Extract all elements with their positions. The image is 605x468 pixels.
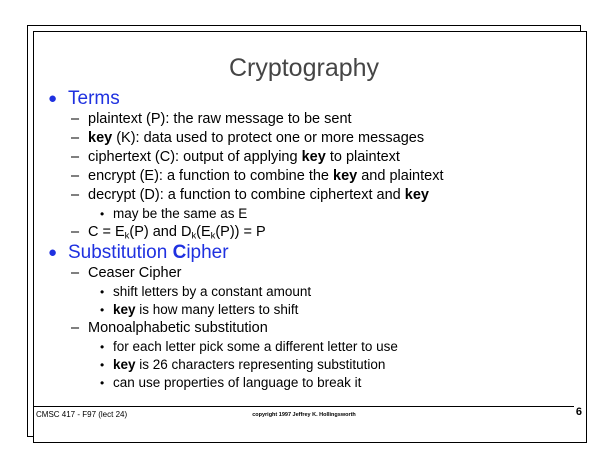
- dash-bullet-icon: –: [71, 223, 79, 242]
- dot-bullet-icon: •: [100, 374, 104, 392]
- outline-body: ●Terms–plaintext (P): the raw message to…: [34, 88, 574, 392]
- heading-terms: ●Terms: [34, 88, 574, 110]
- bullet-ceaser-cipher-label: Ceaser Cipher: [88, 265, 182, 281]
- bullet-plaintext: –plaintext (P): the raw message to be se…: [34, 110, 574, 129]
- page-title: Cryptography: [34, 54, 574, 83]
- footer-copyright-label: copyright 1997 Jeffrey K. Hollingsworth: [34, 412, 574, 418]
- bullet-key-shift-count-label: key is how many letters to shift: [113, 302, 298, 317]
- dot-bullet-icon: •: [100, 301, 104, 319]
- bullet-pick-letter-label: for each letter pick some a different le…: [113, 339, 398, 354]
- dash-bullet-icon: –: [71, 319, 79, 338]
- dash-bullet-icon: –: [71, 129, 79, 148]
- dash-bullet-icon: –: [71, 264, 79, 283]
- bullet-ceaser-cipher: –Ceaser Cipher: [34, 264, 574, 283]
- bullet-key: –key (K): data used to protect one or mo…: [34, 129, 574, 148]
- bullet-shift-letters: •shift letters by a constant amount: [34, 283, 574, 301]
- bullet-decrypt: –decrypt (D): a function to combine ciph…: [34, 186, 574, 205]
- page-number: 6: [576, 406, 582, 418]
- bullet-language-properties: •can use properties of language to break…: [34, 374, 574, 392]
- bullet-encrypt-label: encrypt (E): a function to combine the k…: [88, 168, 443, 184]
- heading-terms-label: Terms: [68, 88, 120, 109]
- bullet-shift-letters-label: shift letters by a constant amount: [113, 284, 311, 299]
- bullet-monoalphabetic-label: Monoalphabetic substitution: [88, 320, 268, 336]
- bullet-key-label: key (K): data used to protect one or mor…: [88, 130, 424, 146]
- bullet-formula: –C = Ek(P) and Dk(Ek(P)) = P: [34, 223, 574, 242]
- bullet-same-as-e: •may be the same as E: [34, 205, 574, 223]
- slide-canvas: Cryptography ●Terms–plaintext (P): the r…: [34, 32, 586, 442]
- footer-divider: [34, 406, 574, 407]
- bullet-pick-letter: •for each letter pick some a different l…: [34, 338, 574, 356]
- bullet-formula-label: C = Ek(P) and Dk(Ek(P)) = P: [88, 224, 266, 240]
- bullet-monoalphabetic: –Monoalphabetic substitution: [34, 319, 574, 338]
- dash-bullet-icon: –: [71, 167, 79, 186]
- bullet-encrypt: –encrypt (E): a function to combine the …: [34, 167, 574, 186]
- dot-bullet-icon: •: [100, 338, 104, 356]
- dash-bullet-icon: –: [71, 186, 79, 205]
- heading-substitution-cipher-label: Substitution Cipher: [68, 242, 229, 263]
- bullet-key-26-chars: •key is 26 characters representing subst…: [34, 356, 574, 374]
- bullet-language-properties-label: can use properties of language to break …: [113, 375, 361, 390]
- bullet-plaintext-label: plaintext (P): the raw message to be sen…: [88, 111, 352, 127]
- bullet-same-as-e-label: may be the same as E: [113, 206, 247, 221]
- bullet-ciphertext: –ciphertext (C): output of applying key …: [34, 148, 574, 167]
- heading-substitution-cipher: ●Substitution Cipher: [34, 242, 574, 264]
- dot-bullet-icon: •: [100, 283, 104, 301]
- disc-bullet-icon: ●: [48, 242, 57, 264]
- bullet-ciphertext-label: ciphertext (C): output of applying key t…: [88, 149, 400, 165]
- dot-bullet-icon: •: [100, 205, 104, 223]
- dash-bullet-icon: –: [71, 148, 79, 167]
- disc-bullet-icon: ●: [48, 88, 57, 110]
- bullet-key-shift-count: •key is how many letters to shift: [34, 301, 574, 319]
- bullet-key-26-chars-label: key is 26 characters representing substi…: [113, 357, 385, 372]
- dot-bullet-icon: •: [100, 356, 104, 374]
- dash-bullet-icon: –: [71, 110, 79, 129]
- bullet-decrypt-label: decrypt (D): a function to combine ciphe…: [88, 187, 429, 203]
